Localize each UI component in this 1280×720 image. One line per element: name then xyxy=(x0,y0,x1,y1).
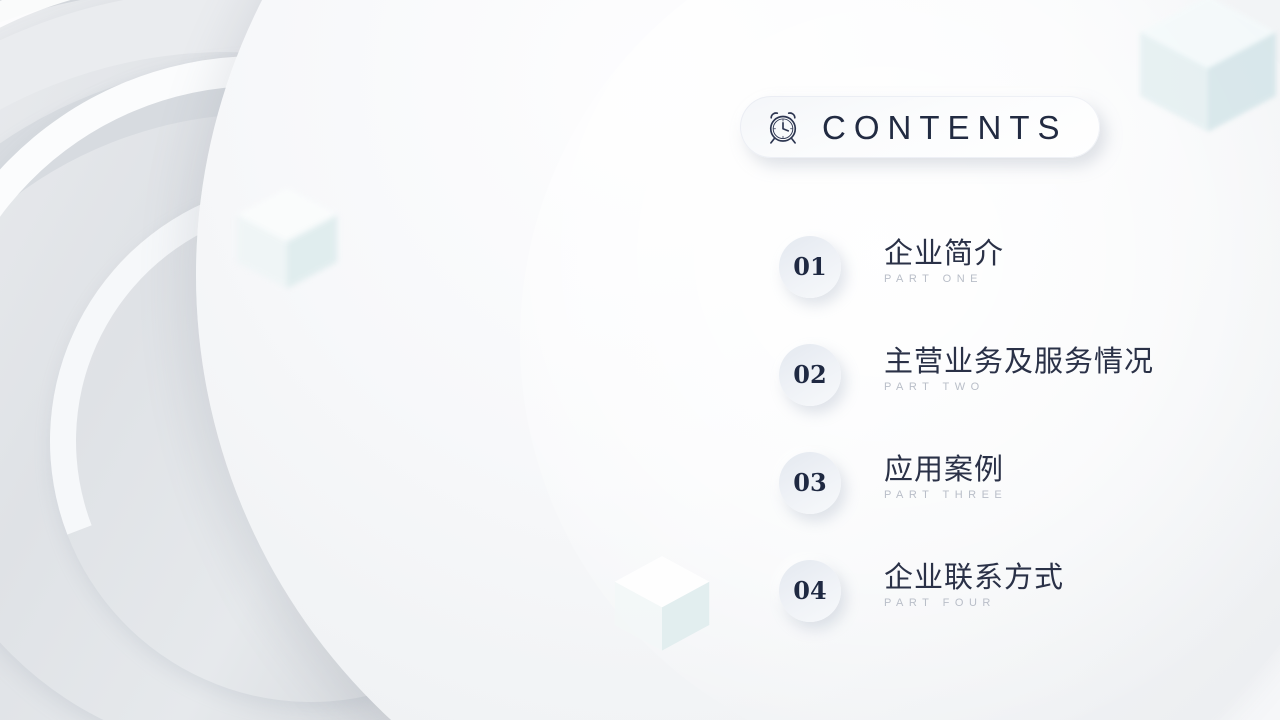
presentation-slide: CONTENTS 01 企业简介 PART ONE 02 主营业务及服务情况 P… xyxy=(0,0,1280,720)
item-text-block-04: 企业联系方式 PART FOUR xyxy=(884,561,1064,610)
contents-item-03[interactable]: 03 应用案例 PART THREE xyxy=(779,452,1249,560)
item-text-block-02: 主营业务及服务情况 PART TWO xyxy=(884,345,1154,394)
contents-list: 01 企业简介 PART ONE 02 主营业务及服务情况 PART TWO 0… xyxy=(779,236,1249,668)
item-title-en-04: PART FOUR xyxy=(884,597,1064,610)
item-number-badge-02: 02 xyxy=(779,344,841,406)
item-title-en-01: PART ONE xyxy=(884,273,1004,286)
item-text-block-01: 企业简介 PART ONE xyxy=(884,237,1004,286)
item-number-03: 03 xyxy=(793,471,826,495)
item-number-badge-01: 01 xyxy=(779,236,841,298)
contents-item-01[interactable]: 01 企业简介 PART ONE xyxy=(779,236,1249,344)
alarm-clock-icon xyxy=(762,106,804,148)
item-text-block-03: 应用案例 PART THREE xyxy=(884,453,1007,502)
item-title-cn-02: 主营业务及服务情况 xyxy=(884,345,1154,380)
item-title-en-02: PART TWO xyxy=(884,381,1154,394)
contents-header-pill: CONTENTS xyxy=(740,96,1100,158)
item-title-cn-04: 企业联系方式 xyxy=(884,561,1064,596)
contents-item-02[interactable]: 02 主营业务及服务情况 PART TWO xyxy=(779,344,1249,452)
cube-top-right-icon xyxy=(1128,0,1280,142)
contents-item-04[interactable]: 04 企业联系方式 PART FOUR xyxy=(779,560,1249,668)
item-title-cn-01: 企业简介 xyxy=(884,237,1004,272)
item-number-02: 02 xyxy=(793,363,826,387)
item-title-cn-03: 应用案例 xyxy=(884,453,1007,488)
item-number-01: 01 xyxy=(793,255,826,279)
cube-bottom-center-icon xyxy=(608,548,716,656)
item-number-04: 04 xyxy=(793,579,826,603)
item-number-badge-04: 04 xyxy=(779,560,841,622)
item-number-badge-03: 03 xyxy=(779,452,841,514)
cube-mid-left-icon xyxy=(228,178,346,296)
contents-title: CONTENTS xyxy=(822,111,1068,144)
item-title-en-03: PART THREE xyxy=(884,489,1007,502)
